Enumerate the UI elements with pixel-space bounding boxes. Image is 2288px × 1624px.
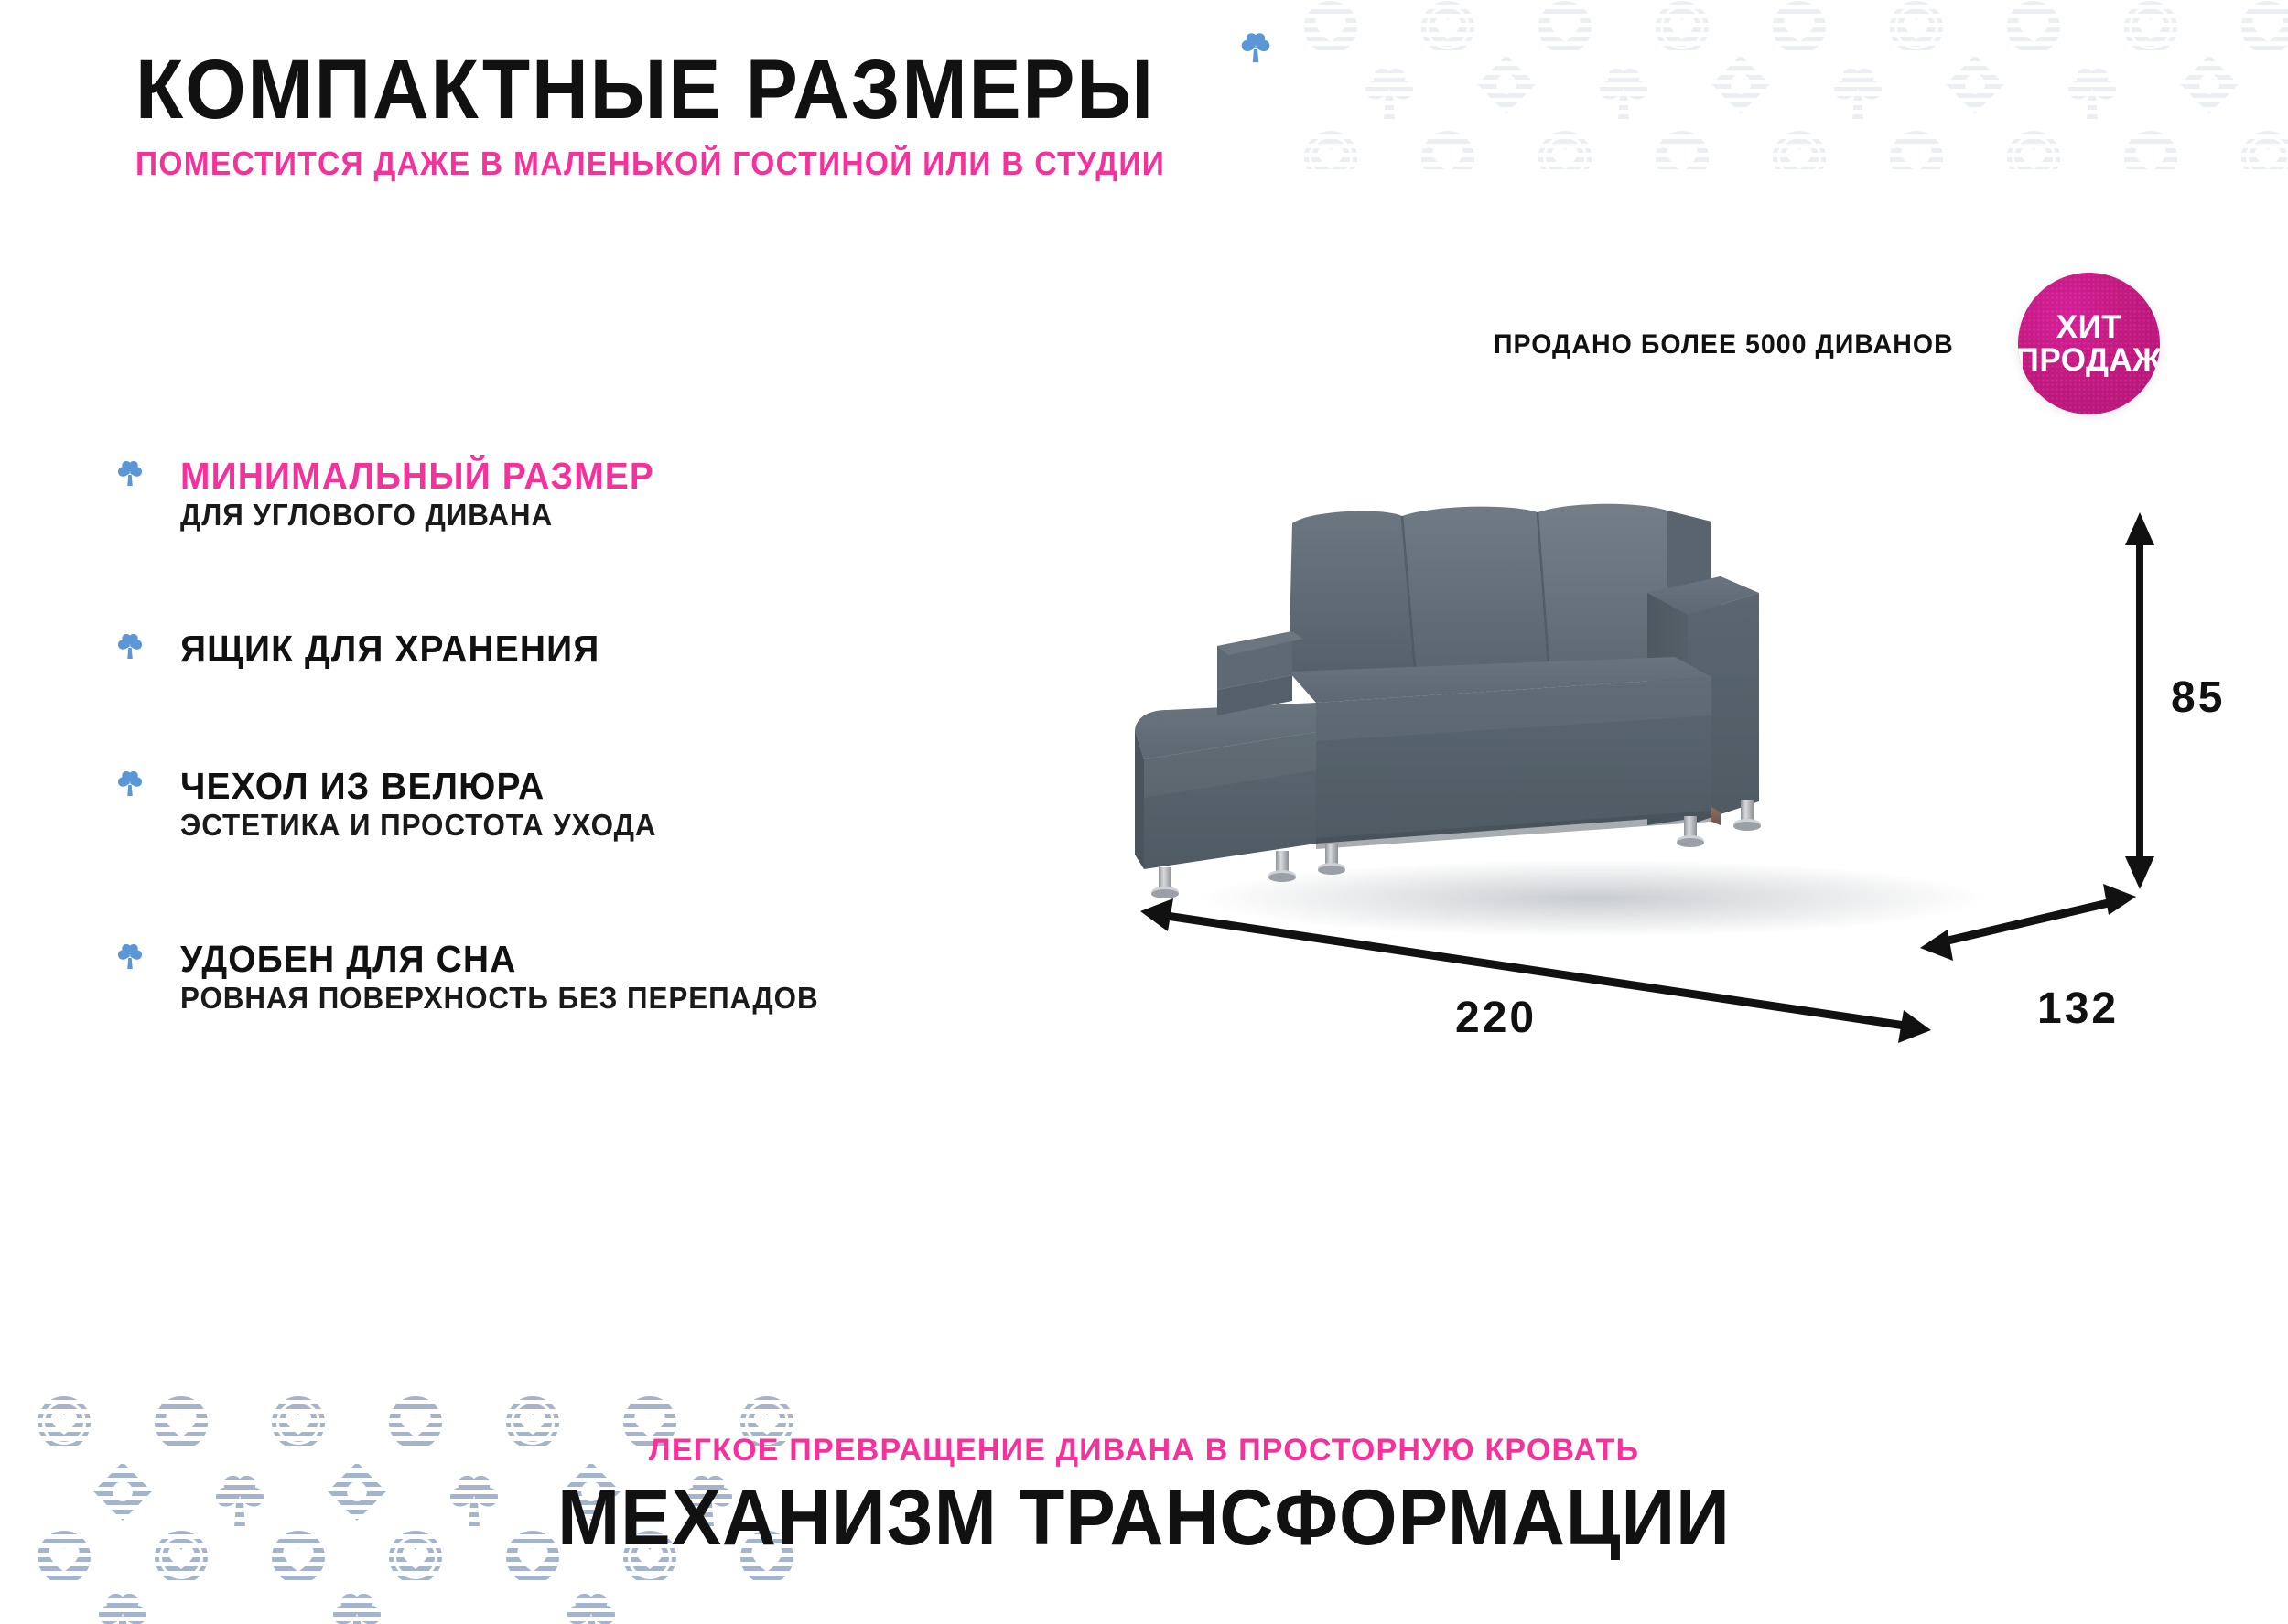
dimension-annotations — [0, 0, 2288, 1624]
infographic-canvas: КОМПАКТНЫЕ РАЗМЕРЫ ПОМЕСТИТСЯ ДАЖЕ В МАЛ… — [0, 0, 2288, 1624]
dimension-label-width: 220 — [1455, 993, 1537, 1043]
dimension-label-height: 85 — [2171, 672, 2225, 723]
badge-line-2: ПРОДАЖ — [2018, 344, 2160, 377]
badge-line-1: ХИТ — [2056, 311, 2121, 344]
dimension-arrow-height — [2125, 512, 2154, 889]
footer-subtitle: ЛЕГКОЕ ПРЕВРАЩЕНИЕ ДИВАНА В ПРОСТОРНУЮ К… — [0, 1433, 2288, 1468]
footer-title: МЕХАНИЗМ ТРАНСФОРМАЦИИ — [58, 1478, 2231, 1558]
footer-block: ЛЕГКОЕ ПРЕВРАЩЕНИЕ ДИВАНА В ПРОСТОРНУЮ К… — [0, 1433, 2288, 1558]
dimension-arrow-depth — [1920, 884, 2136, 961]
dimension-label-depth: 132 — [2037, 984, 2119, 1034]
